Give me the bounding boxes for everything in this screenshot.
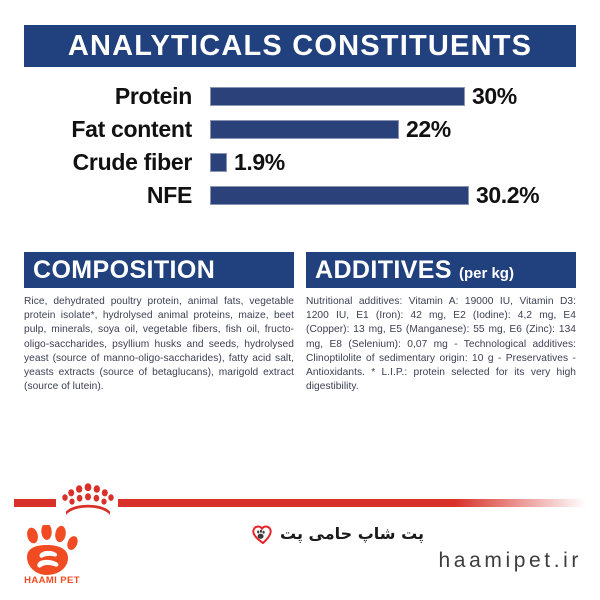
farsi-tagline-row: پت شاپ حامی پت: [252, 523, 582, 545]
constituents-bar-chart: Protein 30% Fat content 22% Crude fiber …: [0, 80, 600, 212]
chart-bar-track: 30.2%: [210, 179, 600, 212]
chart-bar-value: 1.9%: [234, 149, 285, 176]
additives-title: ADDITIVES: [315, 252, 452, 288]
site-domain: haamipet.ir: [252, 549, 582, 573]
chart-bar-value: 22%: [406, 116, 451, 143]
haami-pet-wordmark: HAAMI PET: [16, 575, 88, 586]
chart-bar-label: Fat content: [0, 116, 210, 143]
page-title: ANALYTICALS CONSTITUENTS: [24, 25, 576, 67]
chart-bar-fill: [210, 186, 469, 205]
chart-bar-track: 30%: [210, 80, 600, 113]
brand-rule-left: [14, 499, 56, 507]
info-columns: COMPOSITION Rice, dehydrated poultry pro…: [0, 252, 600, 394]
additives-body: Nutritional additives: Vitamin A: 19000 …: [306, 295, 576, 394]
chart-bar-track: 22%: [210, 113, 600, 146]
page-title-text: ANALYTICALS CONSTITUENTS: [68, 30, 532, 63]
chart-row: Crude fiber 1.9%: [0, 146, 600, 179]
chart-bar-label: Protein: [0, 83, 210, 110]
additives-header: ADDITIVES (per kg): [306, 252, 576, 288]
haami-pet-logo: HAAMI PET: [16, 525, 88, 591]
chart-bar-label: NFE: [0, 182, 210, 209]
paw-print-icon: [16, 525, 88, 577]
chart-bar-value: 30%: [472, 83, 517, 110]
additives-per-kg-label: (per kg): [459, 256, 514, 292]
composition-header: COMPOSITION: [24, 252, 294, 288]
chart-bar-label: Crude fiber: [0, 149, 210, 176]
chart-bar-fill: [210, 153, 227, 172]
chart-bar-value: 30.2%: [476, 182, 539, 209]
footer: HAAMI PET پت شاپ حامی پت haamipet.ir: [0, 455, 600, 600]
farsi-tagline: پت شاپ حامی پت: [280, 523, 424, 545]
composition-section: COMPOSITION Rice, dehydrated poultry pro…: [24, 252, 294, 394]
brand-rule-right: [118, 499, 586, 507]
composition-title: COMPOSITION: [33, 252, 215, 288]
chart-row: Fat content 22%: [0, 113, 600, 146]
crown-icon: [61, 483, 115, 516]
additives-section: ADDITIVES (per kg) Nutritional additives…: [306, 252, 576, 394]
chart-bar-fill: [210, 120, 399, 139]
site-brand: پت شاپ حامی پت haamipet.ir: [252, 523, 582, 573]
composition-body: Rice, dehydrated poultry protein, animal…: [24, 295, 294, 394]
chart-row: Protein 30%: [0, 80, 600, 113]
chart-row: NFE 30.2%: [0, 179, 600, 212]
heart-paw-icon: [252, 524, 274, 544]
analyticals-constituents-panel: ANALYTICALS CONSTITUENTS Protein 30% Fat…: [0, 0, 600, 240]
brand-rule-mark: [14, 483, 586, 519]
chart-bar-fill: [210, 87, 465, 106]
chart-bar-track: 1.9%: [210, 146, 600, 179]
